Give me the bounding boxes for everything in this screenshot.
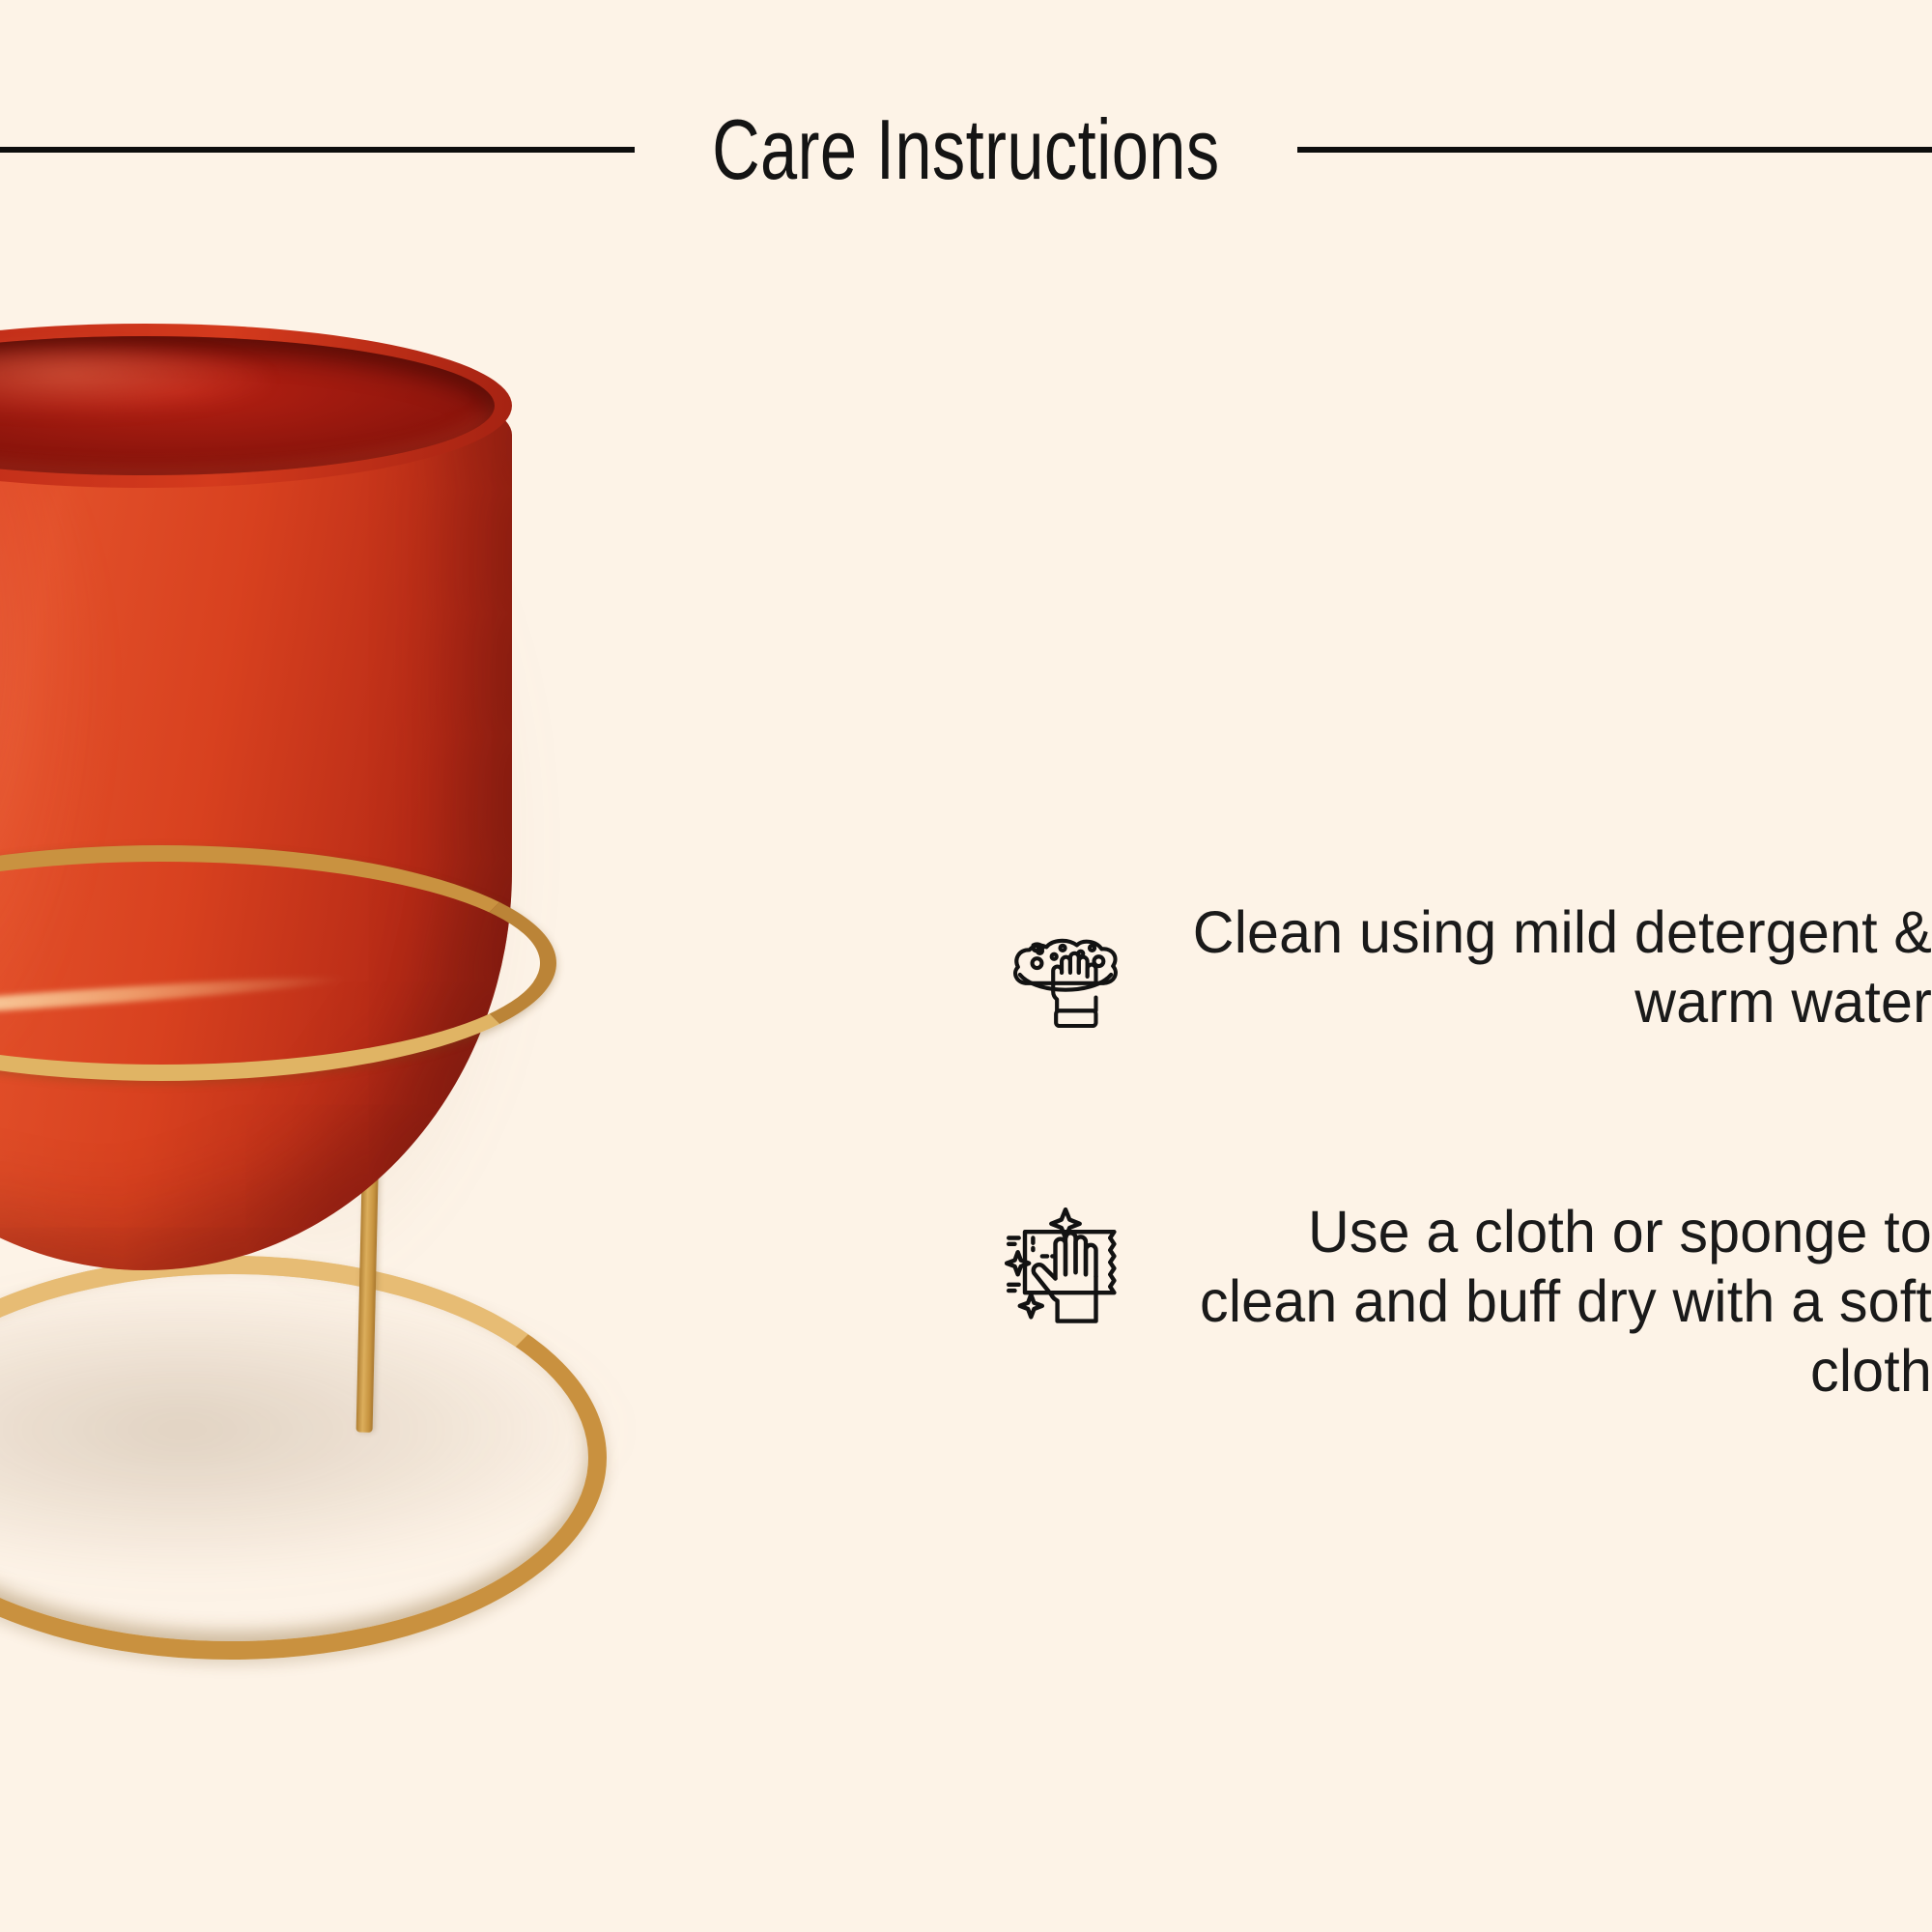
header-rule-left — [0, 147, 635, 153]
planter-pot — [0, 324, 512, 1319]
care-item-text: Use a cloth or sponge to clean and buff … — [1182, 1198, 1932, 1406]
hand-wiping-cloth-sparkle-icon — [993, 1198, 1138, 1343]
care-item-text: Clean using mild detergent & warm water — [1182, 898, 1932, 1037]
care-instructions-page: Care Instructions — [0, 0, 1932, 1932]
product-image — [0, 270, 734, 1652]
page-title: Care Instructions — [708, 107, 1225, 192]
care-item: Use a cloth or sponge to clean and buff … — [947, 1198, 1932, 1406]
care-instructions-list: Clean using mild detergent & warm water — [947, 898, 1932, 1406]
header-rule-right — [1297, 147, 1932, 153]
sponge-hand-icon — [993, 898, 1138, 1043]
page-header: Care Instructions — [0, 97, 1932, 203]
care-item: Clean using mild detergent & warm water — [947, 898, 1932, 1043]
